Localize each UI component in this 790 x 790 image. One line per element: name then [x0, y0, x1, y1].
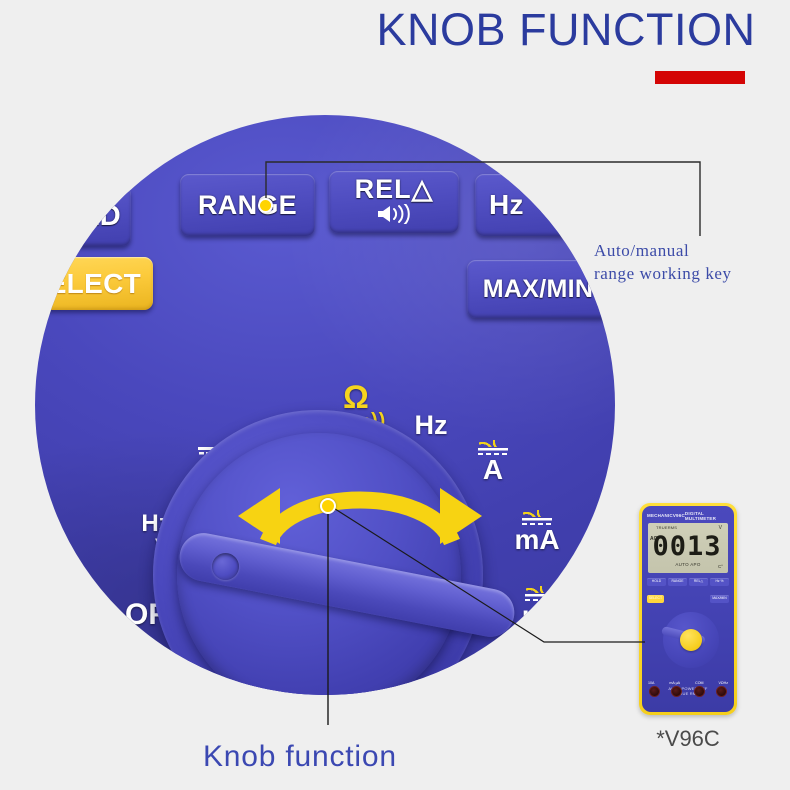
- speaker-icon: [374, 204, 414, 229]
- product-photo: MECHANIC V96C DIGITAL MULTIMETER TRUERMS…: [639, 503, 737, 715]
- product-knob-area: [649, 608, 727, 682]
- product-body: MECHANIC V96C DIGITAL MULTIMETER TRUERMS…: [642, 506, 734, 712]
- hz-percent-button[interactable]: Hz: [475, 174, 597, 236]
- product-input-jacks: 10A mA µA COM VΩHz: [646, 681, 730, 709]
- dial-legend-frequency: Hz: [401, 412, 461, 440]
- jack-label-vohmhz: VΩHz: [719, 681, 728, 685]
- ohm-icon: Ω: [316, 381, 396, 413]
- title-underline-rule: [655, 71, 745, 84]
- callout-dot-knob: [320, 498, 336, 514]
- rel-button-label: REL△: [355, 176, 434, 203]
- ac-dc-symbol-icon: [520, 510, 554, 525]
- product-hold-button[interactable]: HOLD: [647, 578, 666, 586]
- rel-button[interactable]: REL△: [329, 171, 459, 233]
- jack-label-10a: 10A: [648, 681, 654, 685]
- range-button-label: RANGE: [198, 190, 297, 221]
- jack-label-com: COM: [695, 681, 703, 685]
- hold-button[interactable]: OLD: [35, 186, 131, 246]
- maxmin-button[interactable]: MAX/MIN: [467, 260, 609, 318]
- milliamps-label: mA: [502, 526, 572, 555]
- lcd-truerms-flag: TRUERMS: [656, 525, 677, 530]
- dial-legend-temperature: [519, 668, 565, 695]
- product-range-button[interactable]: RANGE: [668, 578, 687, 586]
- product-jack-holes: [646, 685, 730, 697]
- product-type: DIGITAL MULTIMETER: [685, 511, 729, 521]
- knob-indicator-screw: [212, 553, 239, 580]
- meter-face-photo: OLD RANGE REL△ Hz SELECT MAX/MIN: [35, 115, 615, 695]
- hz-percent-button-label: Hz: [489, 189, 524, 221]
- select-button-label: SELECT: [35, 268, 141, 300]
- ac-dc-symbol-icon: [476, 440, 510, 455]
- product-lcd: TRUERMS V AC 0013 AUTO APO C°: [648, 523, 728, 573]
- product-button-row-1: HOLD RANGE REL△ Hz %: [647, 578, 729, 586]
- jack-10a[interactable]: [649, 686, 660, 697]
- hz-label: Hz: [401, 412, 461, 440]
- product-knob-hub[interactable]: [680, 629, 702, 651]
- product-brandbar: MECHANIC V96C DIGITAL MULTIMETER: [647, 510, 729, 521]
- product-maxmin-button[interactable]: MAX/MIN: [710, 595, 729, 603]
- callout-range-line2: range working key: [594, 263, 732, 286]
- jack-com[interactable]: [694, 686, 705, 697]
- page-title: KNOB FUNCTION: [366, 4, 766, 56]
- range-button[interactable]: RANGE: [180, 174, 315, 236]
- caption-knob-function: Knob function: [203, 740, 397, 774]
- dial-legend-milliamps: mA: [502, 510, 572, 555]
- product-hz-percent-button[interactable]: Hz %: [710, 578, 729, 586]
- callout-range-label: Auto/manual range working key: [594, 240, 732, 286]
- product-brand: MECHANIC: [647, 513, 673, 518]
- lcd-celsius-flag: C°: [718, 564, 723, 569]
- slide-root: KNOB FUNCTION OLD RANGE REL△ Hz: [0, 0, 790, 790]
- hold-button-label: OLD: [59, 200, 121, 233]
- product-rel-button[interactable]: REL△: [689, 578, 708, 586]
- ac-dc-symbol-icon: [523, 586, 557, 601]
- callout-dot-range: [258, 198, 273, 213]
- jack-ma-ua[interactable]: [671, 686, 682, 697]
- select-button[interactable]: SELECT: [35, 257, 153, 310]
- callout-range-line1: Auto/manual: [594, 240, 732, 263]
- maxmin-button-label: MAX/MIN: [483, 275, 593, 304]
- jack-vohmhz[interactable]: [716, 686, 727, 697]
- thermometer-icon: [532, 688, 552, 695]
- product-model-label: *V96C: [639, 726, 737, 752]
- product-button-row-2: SELECT MAX/MIN: [647, 595, 729, 603]
- lcd-value: 0013: [648, 531, 726, 562]
- dial-legend-microamps: µA: [505, 586, 575, 631]
- lcd-auto-apo-flag: AUTO APO: [648, 562, 728, 567]
- microamps-label: µA: [505, 602, 575, 631]
- product-select-button[interactable]: SELECT: [647, 595, 664, 603]
- product-model: V96C: [673, 513, 685, 518]
- jack-label-ma-ua: mA µA: [669, 681, 680, 685]
